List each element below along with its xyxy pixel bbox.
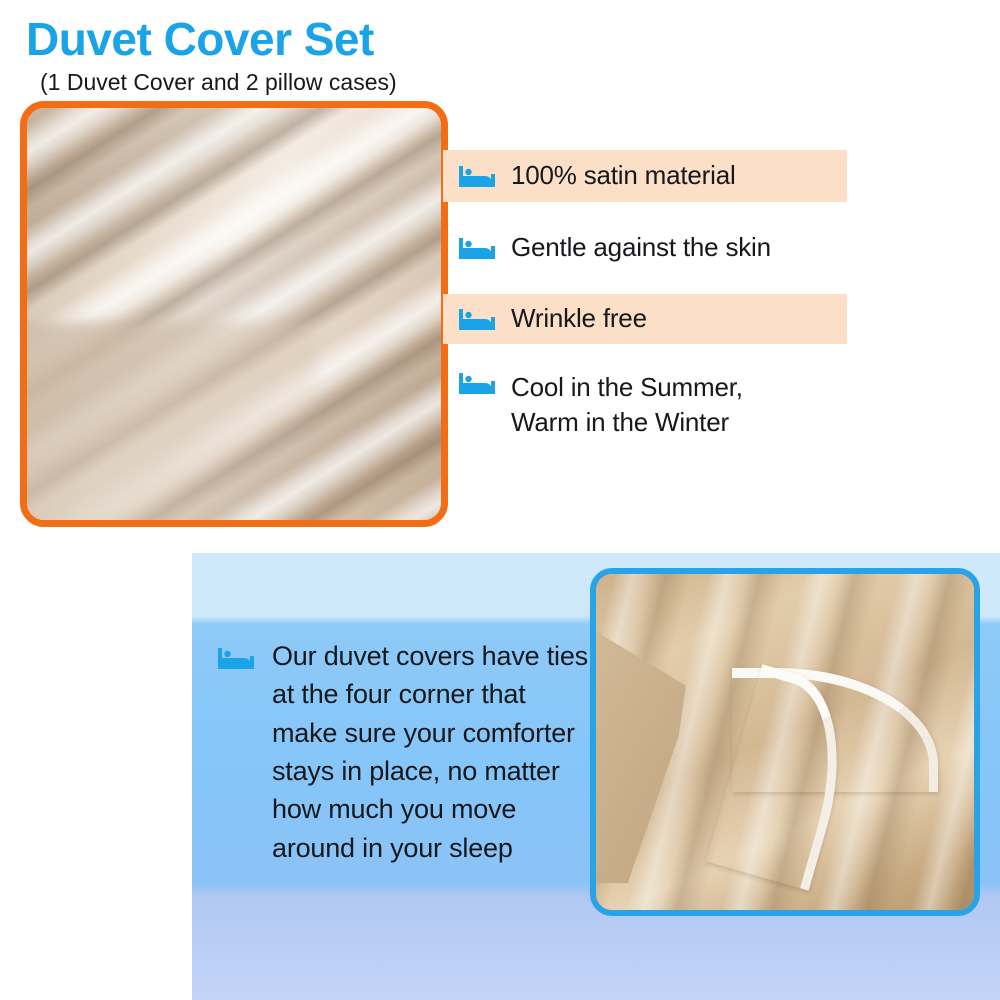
duvet-corner-tie-image [596, 574, 974, 910]
feature-list: 100% satin material Gentle against the s… [443, 150, 847, 452]
infographic-canvas: Duvet Cover Set (1 Duvet Cover and 2 pil… [0, 0, 1000, 1000]
feature-label: Gentle against the skin [511, 230, 771, 265]
bed-icon [459, 163, 497, 189]
satin-fabric-closeup-image [27, 108, 441, 520]
feature-label: Cool in the Summer, Warm in the Winter [511, 370, 743, 441]
bed-icon [459, 370, 497, 396]
bed-icon [459, 235, 497, 261]
duvet-tie-image-frame [590, 568, 980, 916]
page-title: Duvet Cover Set [26, 16, 374, 62]
feature-item-satin-material: 100% satin material [443, 150, 847, 202]
feature-label: Wrinkle free [511, 301, 647, 336]
bed-icon [459, 306, 497, 332]
feature-item-gentle-skin: Gentle against the skin [443, 225, 847, 271]
bed-icon [218, 645, 256, 671]
satin-fabric-image-frame [20, 101, 448, 527]
feature-label: 100% satin material [511, 158, 736, 193]
page-subtitle: (1 Duvet Cover and 2 pillow cases) [40, 71, 397, 94]
feature-item-cool-summer-warm-winter: Cool in the Summer, Warm in the Winter [443, 366, 847, 452]
tie-feature-panel: Our duvet covers have ties at the four c… [192, 553, 1000, 1000]
tie-feature-text-block: Our duvet covers have ties at the four c… [218, 637, 590, 867]
tie-feature-label: Our duvet covers have ties at the four c… [272, 637, 590, 867]
feature-item-wrinkle-free: Wrinkle free [443, 294, 847, 344]
